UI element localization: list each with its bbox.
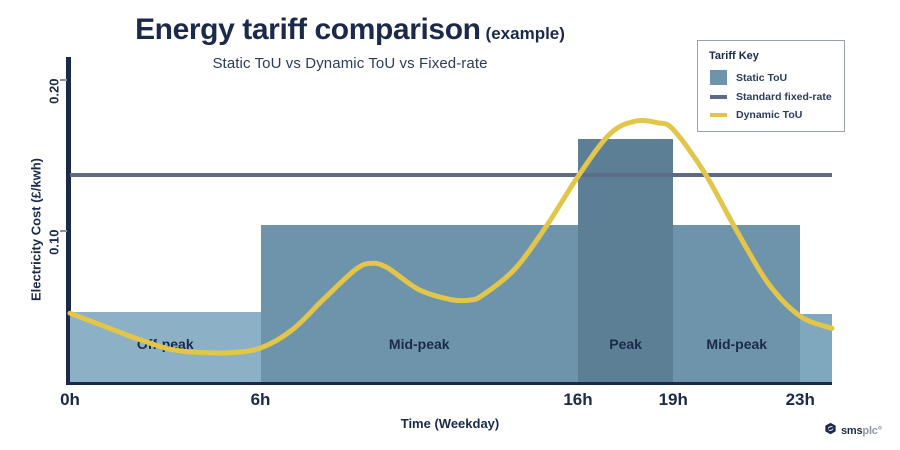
legend-swatch-2-icon xyxy=(709,113,727,117)
brand-logo: smsplc° xyxy=(824,422,882,440)
y-axis-title: Electricity Cost (£/kwh) xyxy=(29,130,44,330)
x-tick-label-3: 19h xyxy=(633,390,713,410)
x-axis-title: Time (Weekday) xyxy=(70,416,830,431)
title-main-text: Energy tariff comparison xyxy=(135,13,480,46)
y-tick-mark-1 xyxy=(60,230,67,232)
legend-item-static-tou[interactable]: Static ToU xyxy=(709,70,834,85)
y-tick-label-0: 0.20 xyxy=(47,78,62,114)
logo-text-light: plc° xyxy=(862,425,882,437)
legend-item-standard-fixed-rate[interactable]: Standard fixed-rate xyxy=(709,91,834,103)
chart-canvas: Energy tariff comparison(example) Static… xyxy=(0,0,900,450)
legend-title: Tariff Key xyxy=(709,50,834,62)
legend-box: Tariff Key Static ToUStandard fixed-rate… xyxy=(697,40,845,132)
page-title: Energy tariff comparison(example) xyxy=(0,14,700,46)
y-tick-mark-0 xyxy=(60,79,67,81)
x-tick-label-0: 0h xyxy=(30,390,110,410)
legend-swatch-shape xyxy=(710,70,727,85)
legend-label-2: Dynamic ToU xyxy=(736,109,802,121)
x-tick-label-4: 23h xyxy=(760,390,840,410)
legend-item-dynamic-tou[interactable]: Dynamic ToU xyxy=(709,109,834,121)
title-suffix-text: (example) xyxy=(486,24,565,43)
legend-items: Static ToUStandard fixed-rateDynamic ToU xyxy=(709,70,834,121)
legend-label-1: Standard fixed-rate xyxy=(736,91,832,103)
dynamic-tou-curve-path xyxy=(70,120,832,353)
sms-shield-icon xyxy=(824,422,837,440)
logo-text-bold: sms xyxy=(841,425,862,437)
legend-swatch-0-icon xyxy=(709,70,727,85)
legend-swatch-1-icon xyxy=(709,95,727,99)
legend-label-0: Static ToU xyxy=(736,72,787,84)
legend-swatch-shape xyxy=(710,95,727,99)
x-tick-label-2: 16h xyxy=(538,390,618,410)
logo-wordmark: smsplc° xyxy=(841,425,882,437)
y-tick-label-1: 0.10 xyxy=(47,229,62,265)
legend-swatch-shape xyxy=(710,113,727,117)
x-tick-label-1: 6h xyxy=(221,390,301,410)
